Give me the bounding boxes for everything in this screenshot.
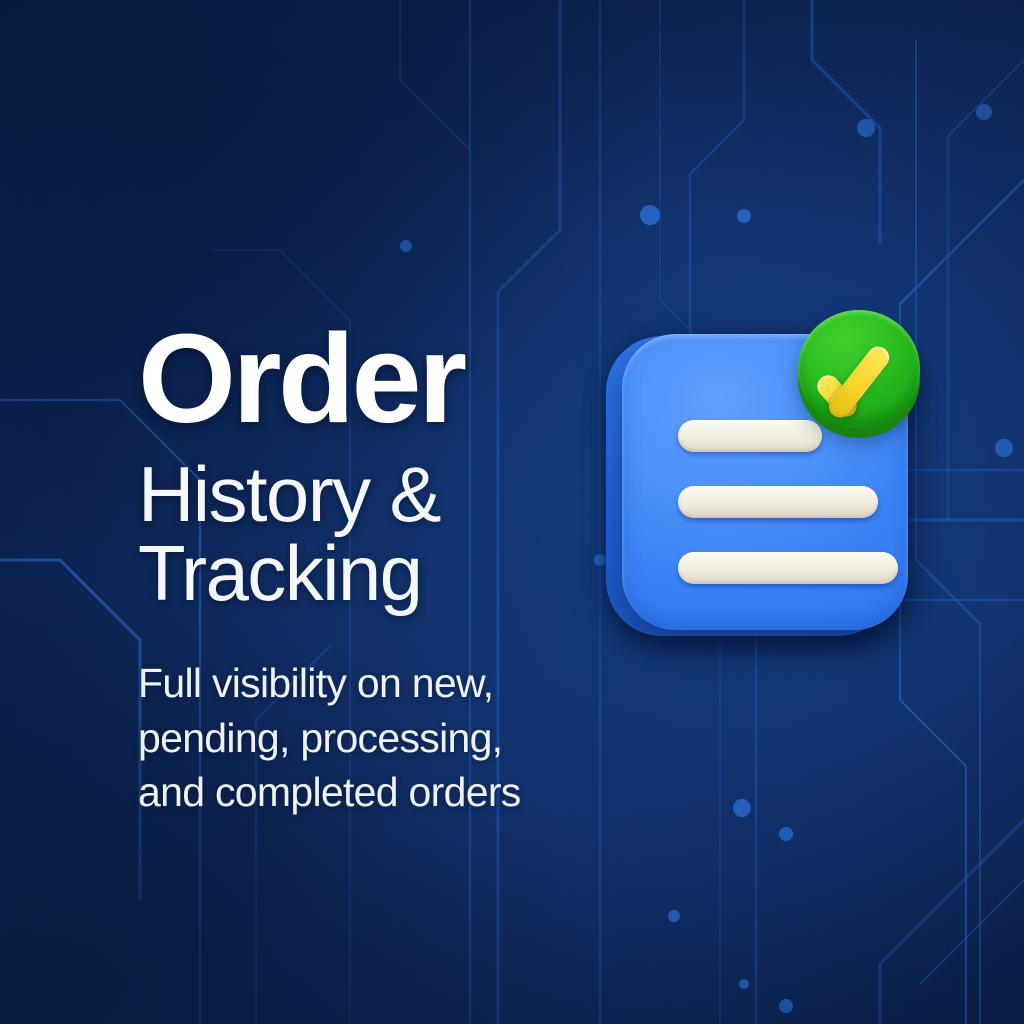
badge-circle — [798, 310, 920, 428]
circuit-node — [779, 999, 793, 1013]
circuit-node — [733, 799, 751, 817]
page-title: Order — [138, 318, 608, 440]
check-badge-icon — [796, 310, 924, 438]
circuit-node — [976, 104, 992, 120]
circuit-trace — [948, 60, 1024, 520]
description-line-2: pending, processing, — [138, 711, 608, 765]
subtitle-line-1: History & — [138, 454, 608, 535]
list-line-2 — [678, 486, 878, 518]
circuit-trace — [880, 820, 1024, 1024]
circuit-node — [857, 119, 875, 137]
circuit-node — [668, 910, 680, 922]
order-document-checklist-icon — [596, 300, 936, 660]
text-block: Order History & Tracking Full visibility… — [138, 318, 608, 819]
circuit-trace — [400, 0, 470, 150]
circuit-trace — [920, 880, 1024, 984]
circuit-node — [400, 240, 412, 252]
circuit-node — [737, 209, 751, 223]
circuit-trace — [0, 560, 140, 900]
list-line-3 — [678, 552, 898, 584]
description-line-3: and completed orders — [138, 765, 608, 819]
description-line-1: Full visibility on new, — [138, 656, 608, 710]
subtitle-line-2: Tracking — [138, 533, 608, 614]
circuit-node — [739, 979, 749, 989]
circuit-node — [640, 205, 660, 225]
circuit-node — [779, 827, 793, 841]
description: Full visibility on new, pending, process… — [138, 656, 608, 818]
promo-canvas: Order History & Tracking Full visibility… — [0, 0, 1024, 1024]
circuit-node — [995, 439, 1013, 457]
